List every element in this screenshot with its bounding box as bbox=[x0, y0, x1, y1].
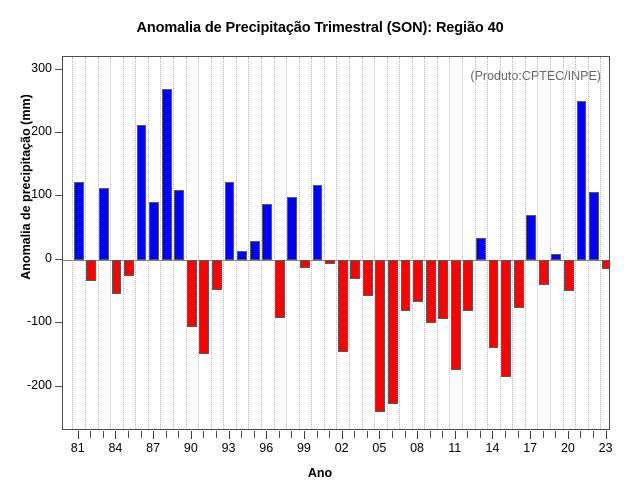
bar-2012 bbox=[463, 260, 473, 311]
x-tick-label: 11 bbox=[435, 441, 475, 455]
bar-1995 bbox=[250, 241, 260, 260]
bar-2019 bbox=[551, 254, 561, 260]
gridline bbox=[211, 57, 213, 429]
bar-1998 bbox=[287, 197, 297, 260]
bar-1987 bbox=[149, 202, 159, 260]
bar-2015 bbox=[501, 260, 511, 377]
bar-1999 bbox=[300, 260, 310, 268]
gridline bbox=[449, 57, 451, 429]
x-tick-mark bbox=[191, 431, 192, 439]
bar-1997 bbox=[275, 260, 285, 318]
x-tick-mark bbox=[279, 431, 280, 438]
producer-annotation: (Produto:CPTEC/INPE) bbox=[470, 69, 601, 83]
x-tick-mark bbox=[467, 431, 468, 438]
gridline bbox=[349, 57, 351, 429]
x-tick-mark bbox=[166, 431, 167, 438]
gridline bbox=[399, 57, 401, 429]
bar-1991 bbox=[199, 260, 209, 354]
bar-2017 bbox=[526, 215, 536, 259]
bar-2005 bbox=[375, 260, 385, 412]
x-tick-mark bbox=[241, 431, 242, 438]
bar-1986 bbox=[137, 125, 147, 260]
x-tick-mark bbox=[568, 431, 569, 439]
x-tick-label: 20 bbox=[548, 441, 588, 455]
gridline bbox=[424, 57, 426, 429]
x-tick-mark bbox=[317, 431, 318, 438]
x-tick-mark bbox=[442, 431, 443, 438]
x-tick-label: 08 bbox=[397, 441, 437, 455]
x-tick-mark bbox=[229, 431, 230, 439]
bar-2023 bbox=[602, 260, 610, 269]
gridline bbox=[512, 57, 514, 429]
bar-1984 bbox=[112, 260, 122, 294]
x-axis-label: Ano bbox=[0, 466, 640, 480]
x-tick-mark bbox=[304, 431, 305, 439]
x-tick-mark bbox=[153, 431, 154, 439]
x-tick-mark bbox=[342, 431, 343, 439]
x-tick-mark bbox=[354, 431, 355, 438]
bar-1985 bbox=[124, 260, 134, 276]
x-tick-mark bbox=[543, 431, 544, 438]
bar-1989 bbox=[174, 190, 184, 260]
x-tick-label: 90 bbox=[171, 441, 211, 455]
y-axis-label: Anomalia de precipitação (mm) bbox=[19, 77, 33, 297]
x-tick-mark bbox=[492, 431, 493, 439]
y-tick-label: 300 bbox=[0, 61, 52, 75]
bar-1994 bbox=[237, 251, 247, 260]
y-tick-label: -100 bbox=[0, 314, 52, 328]
x-tick-mark bbox=[530, 431, 531, 439]
x-tick-mark bbox=[379, 431, 380, 439]
x-tick-mark bbox=[430, 431, 431, 438]
x-tick-mark bbox=[115, 431, 116, 439]
gridline bbox=[550, 57, 552, 429]
x-tick-label: 23 bbox=[586, 441, 626, 455]
bar-1981 bbox=[74, 182, 84, 260]
bar-2016 bbox=[514, 260, 524, 308]
x-tick-mark bbox=[90, 431, 91, 438]
gridline bbox=[462, 57, 464, 429]
gridline bbox=[123, 57, 125, 429]
gridline bbox=[412, 57, 414, 429]
x-tick-mark bbox=[216, 431, 217, 438]
x-tick-label: 99 bbox=[284, 441, 324, 455]
bar-1983 bbox=[99, 188, 109, 260]
x-tick-mark bbox=[291, 431, 292, 438]
bar-1993 bbox=[225, 182, 235, 260]
y-tick-mark bbox=[55, 69, 62, 70]
y-tick-mark bbox=[55, 322, 62, 323]
x-tick-mark bbox=[254, 431, 255, 438]
x-tick-mark bbox=[141, 431, 142, 438]
gridline bbox=[274, 57, 276, 429]
y-tick-label: -200 bbox=[0, 378, 52, 392]
gridline bbox=[324, 57, 326, 429]
bar-2011 bbox=[451, 260, 461, 370]
bar-1996 bbox=[262, 204, 272, 260]
x-tick-label: 17 bbox=[510, 441, 550, 455]
x-tick-mark bbox=[417, 431, 418, 439]
bar-2001 bbox=[325, 260, 335, 264]
bar-1988 bbox=[162, 89, 172, 260]
bar-2003 bbox=[350, 260, 360, 279]
x-tick-mark bbox=[203, 431, 204, 438]
x-tick-mark bbox=[178, 431, 179, 438]
bar-2013 bbox=[476, 238, 486, 260]
x-tick-mark bbox=[580, 431, 581, 438]
gridline bbox=[537, 57, 539, 429]
bar-2006 bbox=[388, 260, 398, 405]
x-tick-mark bbox=[128, 431, 129, 438]
gridline bbox=[487, 57, 489, 429]
bar-2010 bbox=[438, 260, 448, 319]
chart-title: Anomalia de Precipitação Trimestral (SON… bbox=[0, 20, 640, 36]
x-tick-mark bbox=[505, 431, 506, 438]
x-tick-label: 05 bbox=[359, 441, 399, 455]
x-tick-mark bbox=[455, 431, 456, 439]
bar-2022 bbox=[589, 192, 599, 260]
bar-2004 bbox=[363, 260, 373, 296]
x-tick-mark bbox=[593, 431, 594, 438]
x-tick-mark bbox=[266, 431, 267, 439]
bar-1992 bbox=[212, 260, 222, 290]
y-tick-mark bbox=[55, 195, 62, 196]
y-tick-mark bbox=[55, 132, 62, 133]
x-tick-label: 02 bbox=[322, 441, 362, 455]
gridline bbox=[186, 57, 188, 429]
x-tick-mark bbox=[103, 431, 104, 438]
x-tick-label: 87 bbox=[133, 441, 173, 455]
x-tick-label: 96 bbox=[246, 441, 286, 455]
bar-2007 bbox=[401, 260, 411, 311]
bar-1982 bbox=[86, 260, 96, 281]
bar-2000 bbox=[313, 185, 323, 260]
y-tick-mark bbox=[55, 259, 62, 260]
gridline bbox=[600, 57, 602, 429]
x-tick-mark bbox=[329, 431, 330, 438]
gridline bbox=[563, 57, 565, 429]
bar-2018 bbox=[539, 260, 549, 285]
gridline bbox=[336, 57, 338, 429]
x-tick-mark bbox=[480, 431, 481, 438]
x-tick-mark bbox=[518, 431, 519, 438]
gridline bbox=[85, 57, 87, 429]
gridline bbox=[198, 57, 200, 429]
bar-2008 bbox=[413, 260, 423, 302]
bar-2021 bbox=[577, 101, 587, 259]
x-tick-label: 93 bbox=[209, 441, 249, 455]
bar-2009 bbox=[426, 260, 436, 323]
chart-page: Anomalia de Precipitação Trimestral (SON… bbox=[0, 0, 640, 500]
bar-2002 bbox=[338, 260, 348, 353]
x-tick-mark bbox=[367, 431, 368, 438]
x-tick-mark bbox=[392, 431, 393, 438]
x-tick-label: 81 bbox=[58, 441, 98, 455]
gridline bbox=[110, 57, 112, 429]
x-tick-mark bbox=[78, 431, 79, 439]
zero-line bbox=[63, 260, 609, 261]
x-tick-label: 84 bbox=[95, 441, 135, 455]
x-tick-mark bbox=[606, 431, 607, 439]
gridline bbox=[236, 57, 238, 429]
x-tick-mark bbox=[405, 431, 406, 438]
plot-area: (Produto:CPTEC/INPE) bbox=[62, 56, 610, 430]
y-tick-mark bbox=[55, 386, 62, 387]
x-tick-mark bbox=[555, 431, 556, 438]
bar-2020 bbox=[564, 260, 574, 291]
gridline bbox=[362, 57, 364, 429]
gridline bbox=[299, 57, 301, 429]
x-tick-label: 14 bbox=[472, 441, 512, 455]
bar-1990 bbox=[187, 260, 197, 327]
gridline bbox=[437, 57, 439, 429]
bar-2014 bbox=[489, 260, 499, 348]
